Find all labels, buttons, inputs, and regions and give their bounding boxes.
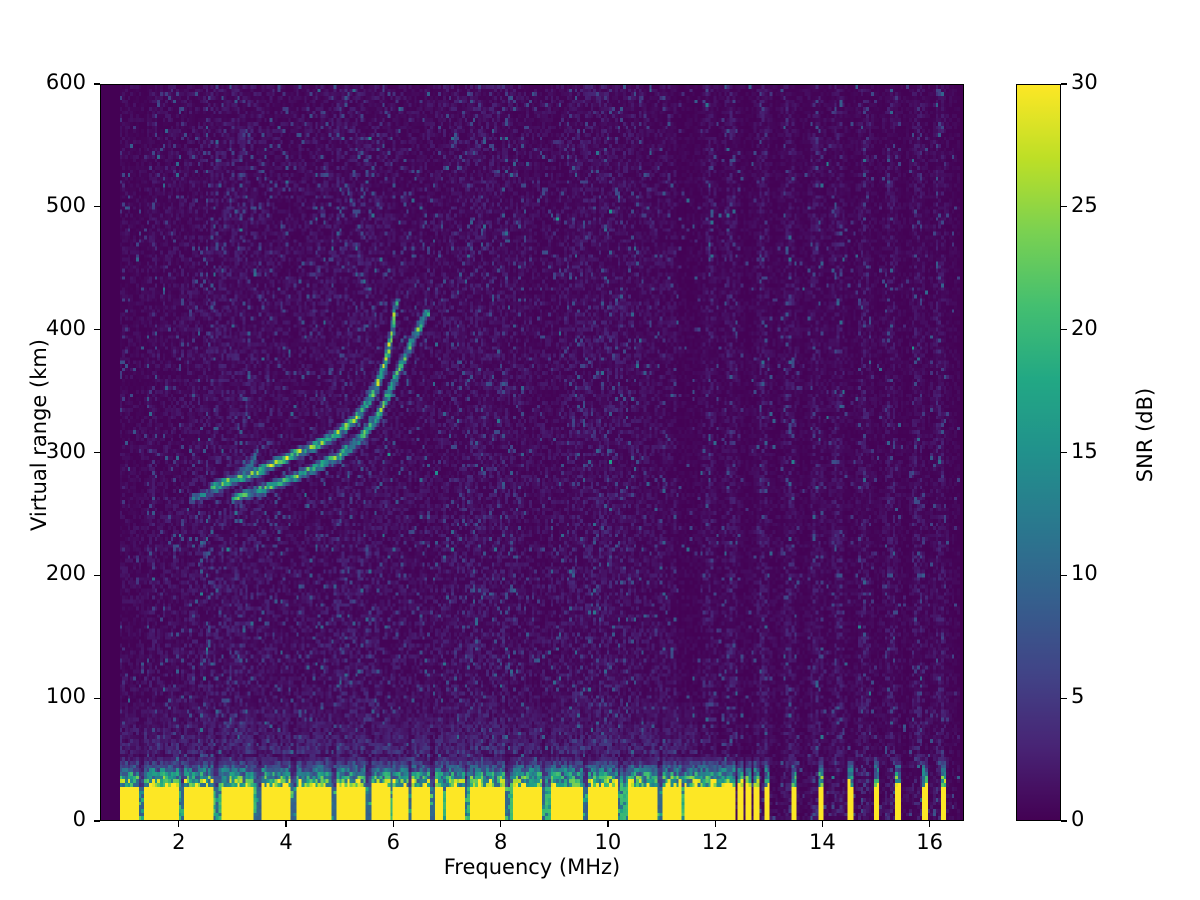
x-axis-label: Frequency (MHz) — [100, 855, 964, 879]
colorbar — [1016, 84, 1061, 821]
x-tick-6 — [393, 821, 394, 827]
colorbar-ticklabel-30: 30 — [1071, 70, 1098, 94]
colorbar-ticklabel-25: 25 — [1071, 193, 1098, 217]
y-ticklabel-0: 0 — [0, 807, 86, 831]
colorbar-ticklabel-5: 5 — [1071, 684, 1084, 708]
x-tick-14 — [822, 821, 823, 827]
colorbar-tick-10 — [1061, 575, 1067, 576]
y-ticklabel-600: 600 — [0, 70, 86, 94]
colorbar-tick-30 — [1061, 83, 1067, 84]
x-ticklabel-16: 16 — [895, 830, 965, 854]
y-ticklabel-500: 500 — [0, 193, 86, 217]
ionogram-figure: IRF Kiruna Ionosonde KI167 2026-04-01 16… — [0, 0, 1200, 900]
y-tick-100 — [94, 698, 100, 699]
x-tick-8 — [500, 821, 501, 827]
colorbar-tick-15 — [1061, 452, 1067, 453]
colorbar-ticklabel-20: 20 — [1071, 316, 1098, 340]
colorbar-tick-20 — [1061, 329, 1067, 330]
colorbar-ticklabel-10: 10 — [1071, 561, 1098, 585]
y-axis-label: Virtual range (km) — [27, 235, 51, 635]
x-tick-12 — [715, 821, 716, 827]
x-tick-10 — [607, 821, 608, 827]
x-ticklabel-12: 12 — [680, 830, 750, 854]
x-tick-16 — [929, 821, 930, 827]
colorbar-tick-5 — [1061, 698, 1067, 699]
y-tick-300 — [94, 452, 100, 453]
x-ticklabel-10: 10 — [573, 830, 643, 854]
y-tick-500 — [94, 206, 100, 207]
x-ticklabel-8: 8 — [466, 830, 536, 854]
ionogram-heatmap — [101, 85, 963, 820]
colorbar-tick-25 — [1061, 206, 1067, 207]
colorbar-ticklabel-0: 0 — [1071, 807, 1084, 831]
x-ticklabel-14: 14 — [787, 830, 857, 854]
y-tick-600 — [94, 83, 100, 84]
ionogram-plot-area — [100, 84, 964, 821]
x-tick-2 — [178, 821, 179, 827]
colorbar-gradient — [1017, 85, 1060, 820]
y-tick-0 — [94, 820, 100, 821]
colorbar-ticklabel-15: 15 — [1071, 439, 1098, 463]
y-tick-400 — [94, 329, 100, 330]
x-tick-4 — [285, 821, 286, 827]
x-ticklabel-2: 2 — [144, 830, 214, 854]
colorbar-tick-0 — [1061, 820, 1067, 821]
y-tick-200 — [94, 575, 100, 576]
colorbar-label: SNR (dB) — [1133, 235, 1157, 635]
x-ticklabel-4: 4 — [251, 830, 321, 854]
x-ticklabel-6: 6 — [358, 830, 428, 854]
y-ticklabel-100: 100 — [0, 684, 86, 708]
